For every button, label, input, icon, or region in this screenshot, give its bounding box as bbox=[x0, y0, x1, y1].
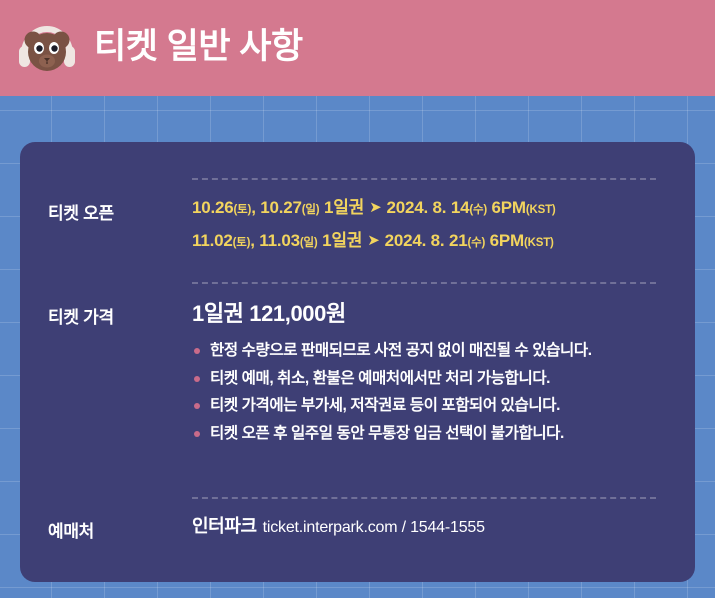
open-line-open-date: 2024. 8. 14 bbox=[386, 198, 469, 217]
bear-headphones-icon bbox=[16, 18, 78, 80]
vendor-body: 인터파크ticket.interpark.com / 1544-1555 bbox=[192, 517, 672, 536]
ticket-open-lines: 10.26(토), 10.27(일) 1일권➤2024. 8. 14(수) 6P… bbox=[192, 199, 672, 249]
label-ticket-price: 티켓 가격 bbox=[48, 303, 198, 328]
label-vendor: 예매처 bbox=[48, 517, 198, 542]
note-text: 한정 수량으로 판매되므로 사전 공지 없이 매진될 수 있습니다. bbox=[210, 342, 592, 359]
vendor-line: 인터파크ticket.interpark.com / 1544-1555 bbox=[192, 517, 672, 536]
open-line-pass: 1일권 bbox=[318, 231, 363, 250]
open-line-open-tz: (KST) bbox=[526, 204, 556, 216]
ticket-price-body: 1일권 121,000원 한정 수량으로 판매되므로 사전 공지 없이 매진될 … bbox=[192, 303, 672, 441]
vendor-contact[interactable]: ticket.interpark.com / 1544-1555 bbox=[263, 519, 485, 536]
ticket-price-value: 1일권 121,000원 bbox=[192, 303, 672, 325]
ticket-open-line: 10.26(토), 10.27(일) 1일권➤2024. 8. 14(수) 6P… bbox=[192, 199, 672, 217]
ticket-open-line: 11.02(토), 11.03(일) 1일권➤2024. 8. 21(수) 6P… bbox=[192, 232, 672, 250]
bullet-dot-icon bbox=[194, 348, 200, 354]
open-line-day-2: (일) bbox=[300, 237, 318, 249]
open-line-day-1: (토) bbox=[234, 204, 252, 216]
open-line-open-day: (수) bbox=[467, 237, 485, 249]
page-title: 티켓 일반 사항 bbox=[94, 29, 303, 67]
divider-vendor bbox=[192, 497, 656, 499]
open-line-open-time: 6PM bbox=[487, 198, 526, 217]
open-line-dates-1: 10.26 bbox=[192, 198, 234, 217]
open-line-pass: 1일권 bbox=[319, 198, 364, 217]
note-text: 티켓 가격에는 부가세, 저작권료 등이 포함되어 있습니다. bbox=[210, 397, 560, 414]
open-line-open-tz: (KST) bbox=[524, 237, 554, 249]
open-line-open-time: 6PM bbox=[485, 231, 524, 250]
open-line-dates-2: , 11.03 bbox=[250, 231, 300, 250]
list-item: 티켓 예매, 취소, 환불은 예매처에서만 처리 가능합니다. bbox=[192, 371, 672, 387]
label-ticket-open: 티켓 오픈 bbox=[48, 199, 198, 224]
info-card: 티켓 오픈 10.26(토), 10.27(일) 1일권➤2024. 8. 14… bbox=[20, 142, 695, 582]
arrow-right-icon: ➤ bbox=[369, 200, 381, 215]
open-line-open-date: 2024. 8. 21 bbox=[385, 231, 468, 250]
bullet-dot-icon bbox=[194, 376, 200, 382]
page-header: 티켓 일반 사항 bbox=[0, 0, 715, 96]
divider-ticket-price bbox=[192, 282, 656, 284]
list-item: 티켓 가격에는 부가세, 저작권료 등이 포함되어 있습니다. bbox=[192, 398, 672, 414]
bullet-dot-icon bbox=[194, 403, 200, 409]
open-line-open-day: (수) bbox=[469, 204, 487, 216]
list-item: 한정 수량으로 판매되므로 사전 공지 없이 매진될 수 있습니다. bbox=[192, 343, 672, 359]
vendor-name: 인터파크 bbox=[192, 516, 257, 536]
bullet-dot-icon bbox=[194, 431, 200, 437]
arrow-right-icon: ➤ bbox=[367, 233, 379, 248]
note-text: 티켓 예매, 취소, 환불은 예매처에서만 처리 가능합니다. bbox=[210, 370, 550, 387]
note-text: 티켓 오픈 후 일주일 동안 무통장 입금 선택이 불가합니다. bbox=[210, 425, 564, 442]
open-line-day-2: (일) bbox=[302, 204, 320, 216]
ticket-price-notes: 한정 수량으로 판매되므로 사전 공지 없이 매진될 수 있습니다. 티켓 예매… bbox=[192, 343, 672, 441]
open-line-dates-1: 11.02 bbox=[192, 231, 233, 250]
divider-ticket-open bbox=[192, 178, 656, 180]
open-line-day-1: (토) bbox=[233, 237, 251, 249]
open-line-dates-2: , 10.27 bbox=[251, 198, 302, 217]
list-item: 티켓 오픈 후 일주일 동안 무통장 입금 선택이 불가합니다. bbox=[192, 426, 672, 442]
